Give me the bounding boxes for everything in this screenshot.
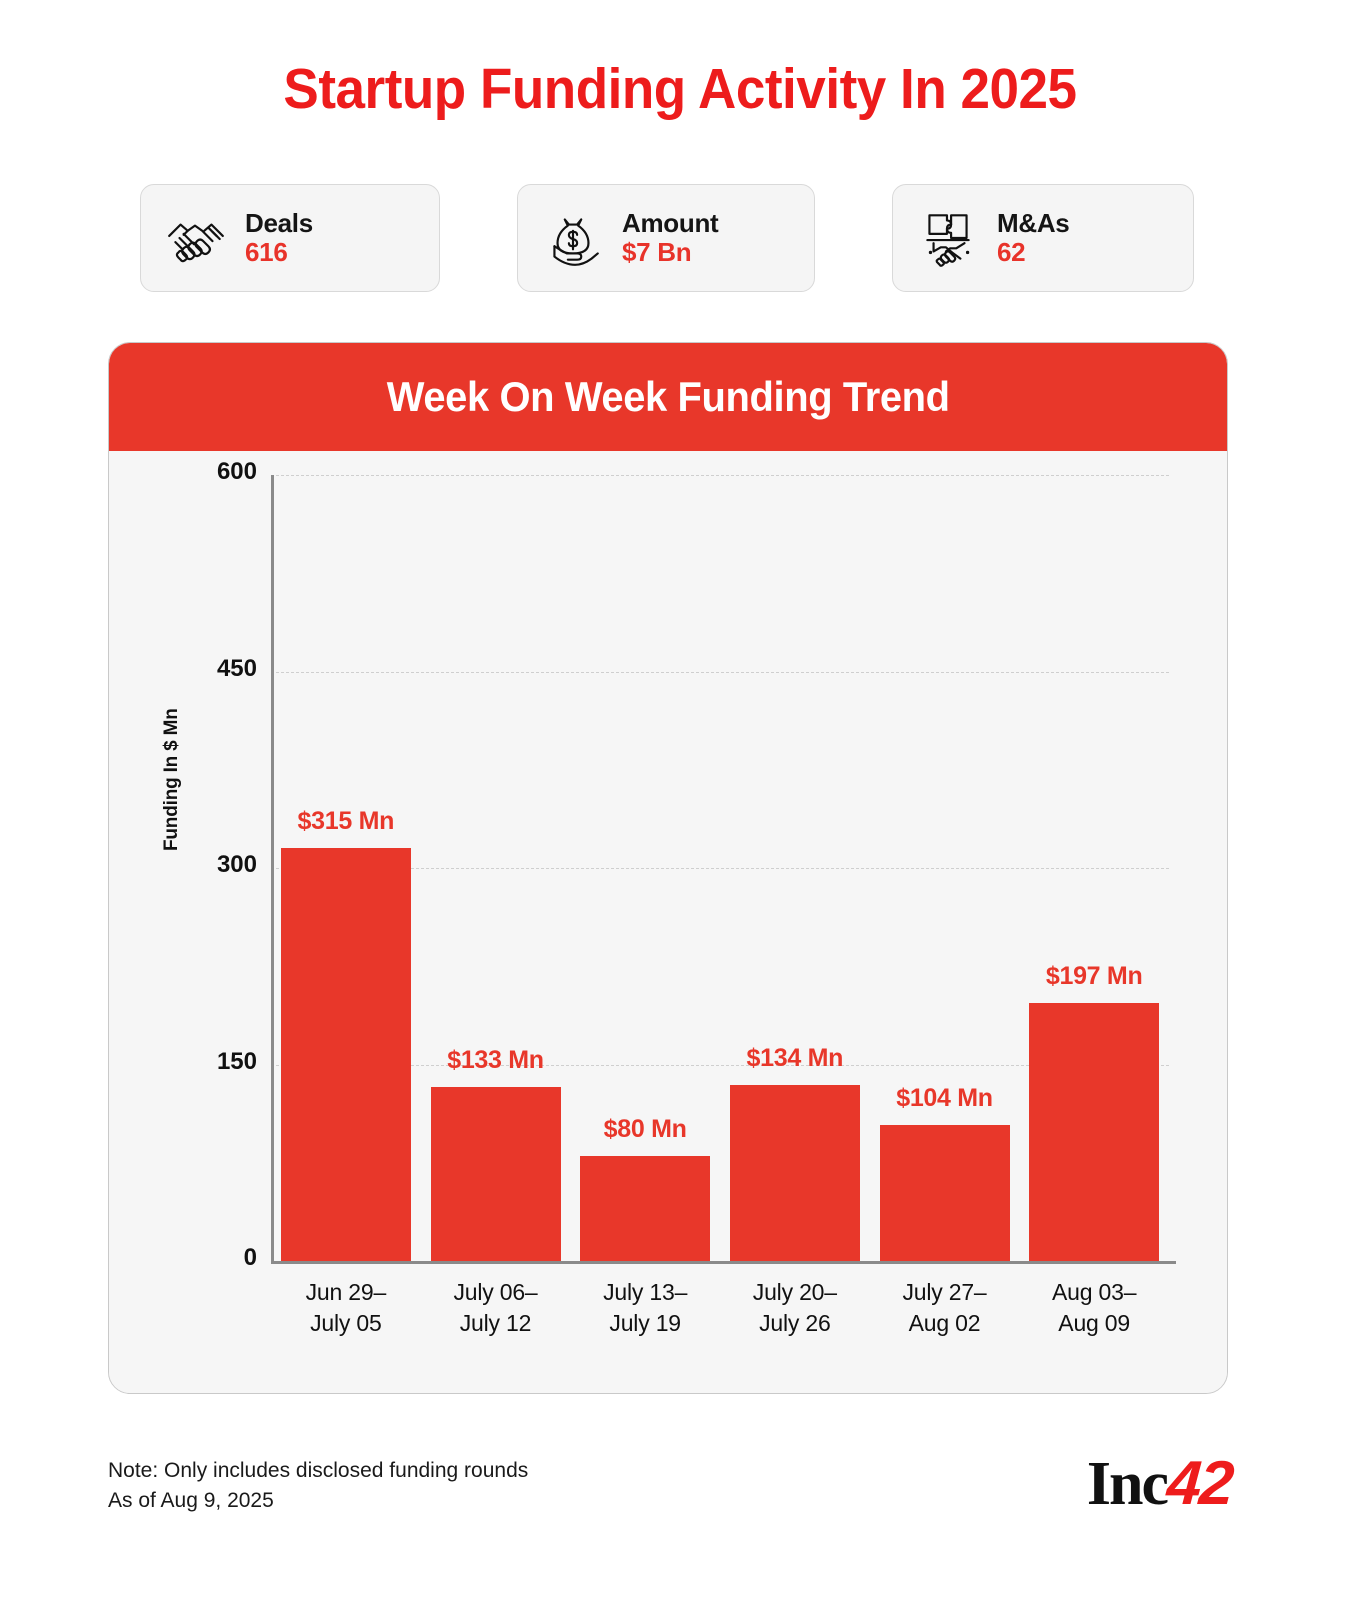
bar-value-label: $197 Mn (1046, 962, 1143, 991)
stat-value-deals: 616 (245, 238, 313, 267)
chart-card: Week On Week Funding Trend Funding In $ … (108, 342, 1228, 1394)
x-axis-tick-labels: Jun 29–July 05July 06–July 12July 13–Jul… (271, 1277, 1169, 1377)
x-axis-tick-line: Aug 03– (1004, 1277, 1184, 1308)
stat-label-mnas: M&As (997, 209, 1069, 238)
stat-card-amount[interactable]: Amount $7 Bn (517, 184, 815, 292)
x-axis-tick: Aug 03–Aug 09 (1004, 1277, 1184, 1339)
bar-value-label: $315 Mn (298, 807, 395, 836)
y-axis-tick: 150 (137, 1048, 257, 1076)
chart-bars: $315 Mn$133 Mn$80 Mn$134 Mn$104 Mn$197 M… (271, 475, 1169, 1261)
footer-note-line-1: Note: Only includes disclosed funding ro… (108, 1456, 528, 1486)
bar-slot: $134 Mn (730, 475, 860, 1261)
page-title: Startup Funding Activity In 2025 (48, 56, 1313, 122)
bar-slot: $315 Mn (281, 475, 411, 1261)
y-axis-tick: 600 (137, 458, 257, 486)
chart-plot-wrapper: Funding In $ Mn 0150300450600 $315 Mn$13… (109, 451, 1227, 1394)
stat-text-amount: Amount $7 Bn (622, 209, 718, 267)
stat-value-amount: $7 Bn (622, 238, 718, 267)
bar-slot: $104 Mn (880, 475, 1010, 1261)
bar-value-label: $133 Mn (447, 1046, 544, 1075)
logo-text-inc: Inc (1087, 1449, 1167, 1520)
bar[interactable] (580, 1156, 710, 1261)
chart-title: Week On Week Funding Trend (387, 373, 950, 421)
bar-slot: $197 Mn (1029, 475, 1159, 1261)
stat-label-amount: Amount (622, 209, 718, 238)
infographic-page: Startup Funding Activity In 2025 (0, 0, 1360, 1604)
bar-slot: $133 Mn (431, 475, 561, 1261)
stat-card-mnas[interactable]: M&As 62 (892, 184, 1194, 292)
bar-value-label: $104 Mn (896, 1084, 993, 1113)
stat-text-mnas: M&As 62 (997, 209, 1069, 267)
bar-slot: $80 Mn (580, 475, 710, 1261)
inc42-logo[interactable]: Inc 42 (1087, 1448, 1232, 1520)
y-axis-title: Funding In $ Mn (161, 708, 183, 851)
bar[interactable] (730, 1085, 860, 1261)
stat-text-deals: Deals 616 (245, 209, 313, 267)
bar-value-label: $134 Mn (747, 1044, 844, 1073)
stat-card-deals[interactable]: Deals 616 (140, 184, 440, 292)
handshake-icon (163, 205, 229, 271)
x-axis-line (271, 1261, 1176, 1264)
bar-value-label: $80 Mn (604, 1115, 687, 1144)
footer-note-line-2: As of Aug 9, 2025 (108, 1486, 528, 1516)
chart-header: Week On Week Funding Trend (109, 343, 1227, 451)
y-axis-tick: 300 (137, 851, 257, 879)
x-axis-tick-line: Aug 09 (1004, 1308, 1184, 1339)
puzzle-handshake-icon (915, 205, 981, 271)
logo-text-42: 42 (1165, 1448, 1235, 1519)
stat-label-deals: Deals (245, 209, 313, 238)
footer-note: Note: Only includes disclosed funding ro… (108, 1456, 528, 1516)
bar[interactable] (1029, 1003, 1159, 1261)
stat-value-mnas: 62 (997, 238, 1069, 267)
y-axis-tick: 450 (137, 655, 257, 683)
money-bag-hand-icon (540, 205, 606, 271)
bar[interactable] (431, 1087, 561, 1261)
bar[interactable] (880, 1125, 1010, 1261)
y-axis-tick: 0 (137, 1244, 257, 1272)
stat-card-row: Deals 616 Amount $7 Bn (140, 184, 1194, 292)
bar[interactable] (281, 848, 411, 1261)
